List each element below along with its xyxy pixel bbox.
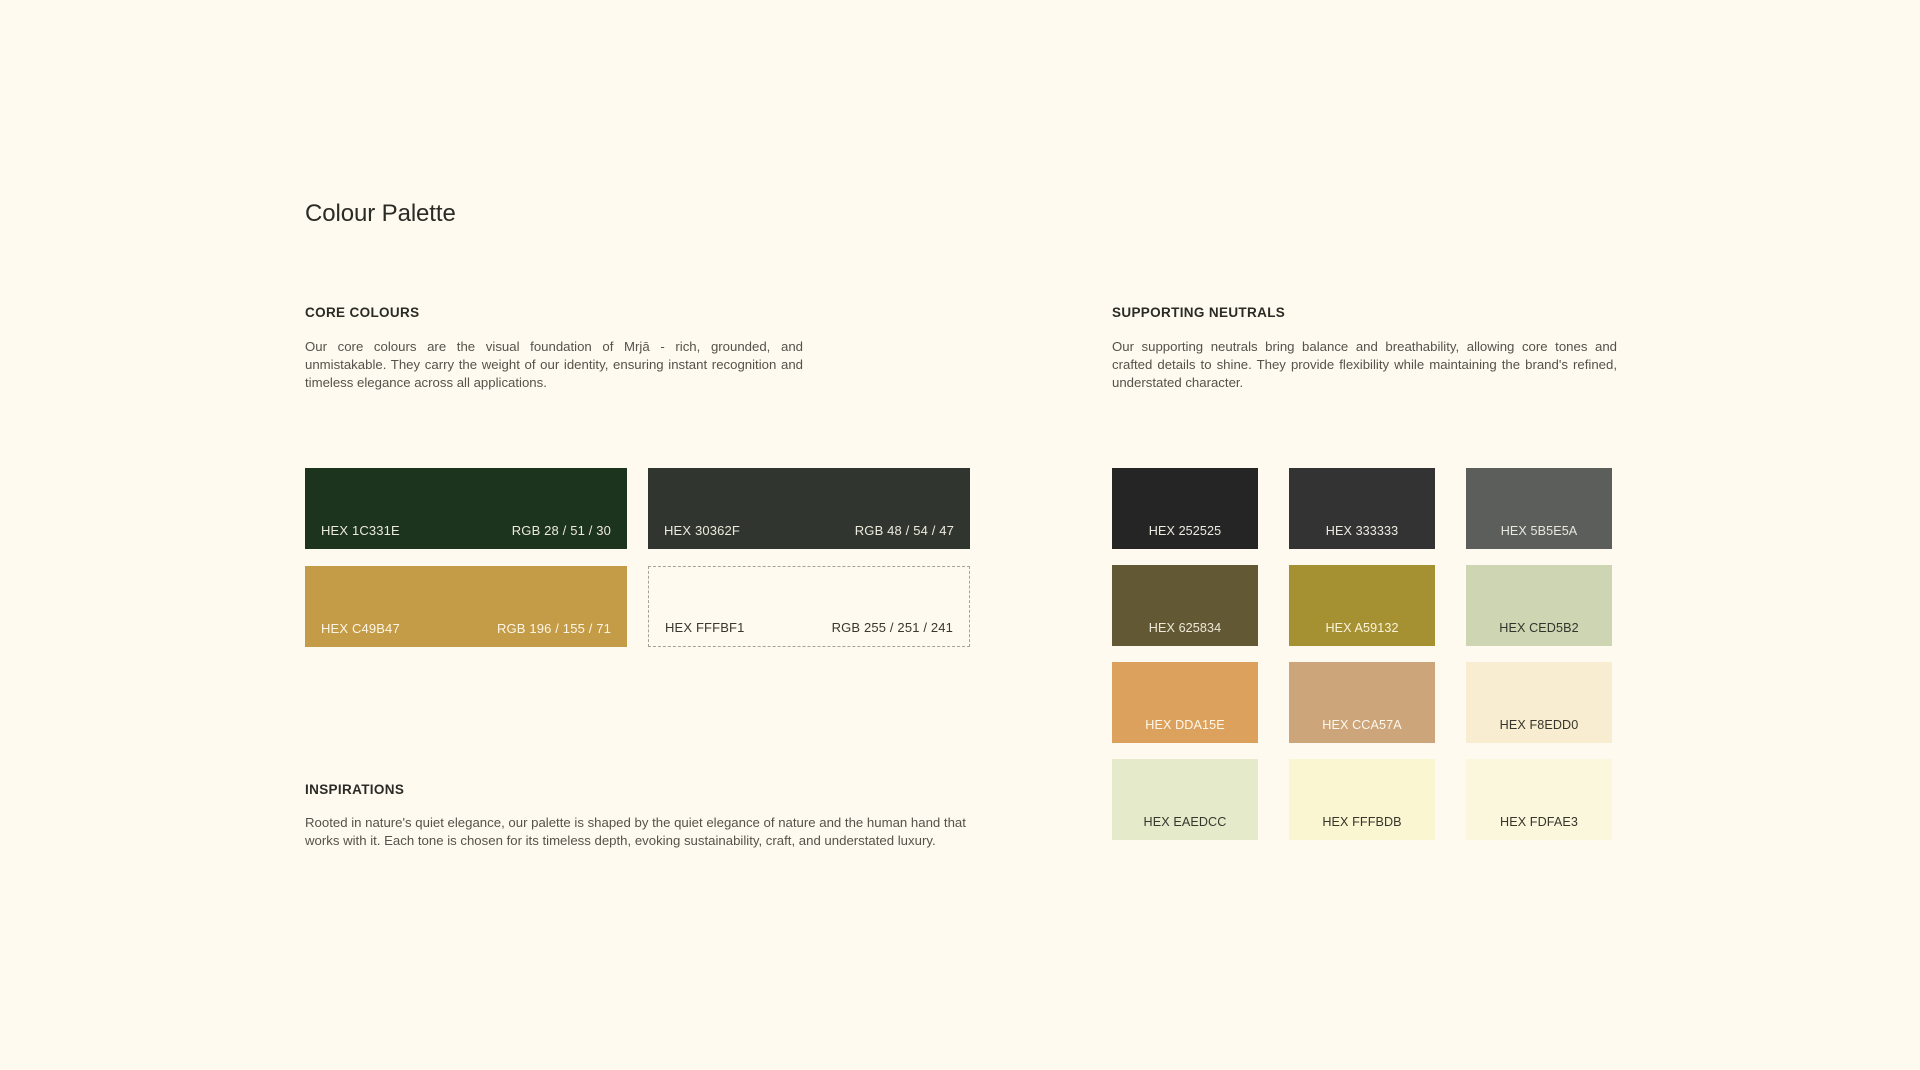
neutral-swatch[interactable]: HEX A59132 <box>1289 565 1435 646</box>
neutral-swatch[interactable]: HEX F8EDD0 <box>1466 662 1612 743</box>
core-swatch-grid: HEX 1C331ERGB 28 / 51 / 30HEX 30362FRGB … <box>305 468 970 647</box>
swatch-hex-label: HEX 5B5E5A <box>1501 524 1578 538</box>
swatch-hex-label: HEX C49B47 <box>321 621 400 636</box>
swatch-hex-label: HEX CCA57A <box>1322 718 1401 732</box>
swatch-hex-label: HEX FFFBDB <box>1322 815 1401 829</box>
page-title: Colour Palette <box>305 200 456 229</box>
neutral-swatch[interactable]: HEX DDA15E <box>1112 662 1258 743</box>
core-swatch[interactable]: HEX 30362FRGB 48 / 54 / 47 <box>648 468 970 549</box>
colour-palette-page: Colour Palette CORE COLOURS Our core col… <box>0 0 1920 1070</box>
swatch-hex-label: HEX FFFBF1 <box>665 620 745 635</box>
swatch-hex-label: HEX 30362F <box>664 523 740 538</box>
swatch-hex-label: HEX A59132 <box>1325 621 1398 635</box>
swatch-hex-label: HEX F8EDD0 <box>1500 718 1579 732</box>
swatch-rgb-label: RGB 48 / 54 / 47 <box>855 523 954 538</box>
core-colours-heading: CORE COLOURS <box>305 305 970 320</box>
supporting-neutrals-description: Our supporting neutrals bring balance an… <box>1112 338 1617 393</box>
swatch-rgb-label: RGB 255 / 251 / 241 <box>832 620 953 635</box>
swatch-hex-label: HEX CED5B2 <box>1499 621 1578 635</box>
swatch-hex-label: HEX EAEDCC <box>1144 815 1227 829</box>
swatch-hex-label: HEX 252525 <box>1149 524 1221 538</box>
swatch-hex-label: HEX DDA15E <box>1145 718 1224 732</box>
neutral-swatch[interactable]: HEX EAEDCC <box>1112 759 1258 840</box>
core-swatch[interactable]: HEX 1C331ERGB 28 / 51 / 30 <box>305 468 627 549</box>
inspirations-description: Rooted in nature's quiet elegance, our p… <box>305 814 970 850</box>
inspirations-section: INSPIRATIONS Rooted in nature's quiet el… <box>305 782 970 850</box>
supporting-neutrals-section: SUPPORTING NEUTRALS Our supporting neutr… <box>1112 305 1617 393</box>
swatch-hex-label: HEX FDFAE3 <box>1500 815 1578 829</box>
neutral-swatch[interactable]: HEX 625834 <box>1112 565 1258 646</box>
neutral-swatch[interactable]: HEX 333333 <box>1289 468 1435 549</box>
neutral-swatch[interactable]: HEX 252525 <box>1112 468 1258 549</box>
swatch-hex-label: HEX 625834 <box>1149 621 1221 635</box>
core-swatch[interactable]: HEX C49B47RGB 196 / 155 / 71 <box>305 566 627 647</box>
swatch-rgb-label: RGB 28 / 51 / 30 <box>512 523 611 538</box>
neutral-swatch[interactable]: HEX FFFBDB <box>1289 759 1435 840</box>
core-colours-description: Our core colours are the visual foundati… <box>305 338 803 393</box>
neutral-swatch[interactable]: HEX 5B5E5A <box>1466 468 1612 549</box>
swatch-hex-label: HEX 333333 <box>1326 524 1398 538</box>
swatch-hex-label: HEX 1C331E <box>321 523 400 538</box>
core-colours-section: CORE COLOURS Our core colours are the vi… <box>305 305 970 393</box>
neutral-swatch[interactable]: HEX FDFAE3 <box>1466 759 1612 840</box>
neutral-swatch[interactable]: HEX CED5B2 <box>1466 565 1612 646</box>
neutral-swatch-grid: HEX 252525HEX 333333HEX 5B5E5AHEX 625834… <box>1112 468 1612 840</box>
swatch-rgb-label: RGB 196 / 155 / 71 <box>497 621 611 636</box>
supporting-neutrals-heading: SUPPORTING NEUTRALS <box>1112 305 1617 320</box>
inspirations-heading: INSPIRATIONS <box>305 782 970 797</box>
core-swatch[interactable]: HEX FFFBF1RGB 255 / 251 / 241 <box>648 566 970 647</box>
neutral-swatch[interactable]: HEX CCA57A <box>1289 662 1435 743</box>
